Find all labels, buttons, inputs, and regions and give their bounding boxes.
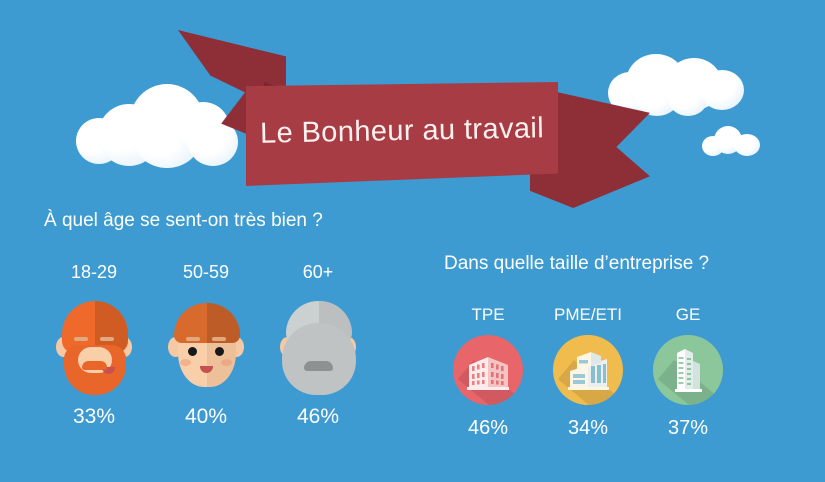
beard-icon — [64, 345, 126, 395]
company-size-pme-eti: PME/ETI — [538, 305, 638, 440]
company-size-percent: 46% — [438, 417, 538, 440]
cloud-puff — [734, 134, 760, 156]
young-man-face — [156, 293, 256, 397]
age-group-label: 60+ — [268, 262, 368, 283]
skyscraper-glyph — [653, 335, 723, 405]
eye-icon — [188, 347, 197, 356]
age-group-percent: 40% — [156, 405, 256, 429]
mustache-icon — [82, 361, 107, 370]
eye-icon — [215, 347, 224, 356]
eyebrow-icon — [212, 337, 226, 341]
eyebrow-icon — [186, 337, 200, 341]
eyebrow-icon — [100, 337, 114, 341]
office-building-glyph — [553, 335, 623, 405]
company-size-label: PME/ETI — [538, 305, 638, 325]
age-group-percent: 33% — [44, 405, 144, 429]
mustache-icon — [304, 361, 333, 371]
age-group-label: 50-59 — [156, 262, 256, 283]
age-group-label: 18-29 — [44, 262, 144, 283]
company-size-list: TPE — [438, 305, 750, 440]
grey-hair-volume — [282, 323, 356, 395]
office-building-icon — [553, 335, 623, 405]
ribbon-band: Le Bonheur au travail — [246, 82, 558, 186]
age-group-18-29: 18-29 — [44, 262, 144, 429]
skyscraper-icon — [653, 335, 723, 405]
company-size-label: GE — [638, 305, 738, 325]
age-section-title: À quel âge se sent-on très bien ? — [44, 210, 323, 232]
elderly-man-face — [268, 293, 368, 397]
age-group-percent: 46% — [268, 405, 368, 429]
age-group-list: 18-29 — [44, 262, 384, 429]
company-size-label: TPE — [438, 305, 538, 325]
company-size-percent: 34% — [538, 417, 638, 440]
cloud-puff — [700, 70, 744, 110]
classic-building-icon — [453, 335, 523, 405]
cheek-blush — [221, 359, 232, 366]
age-group-60-plus: 60+ 4 — [268, 262, 368, 429]
title-ribbon: Le Bonheur au travail — [178, 28, 648, 178]
company-size-ge: GE — [638, 305, 738, 440]
infographic-canvas: Le Bonheur au travail À quel âge se sent… — [0, 0, 825, 482]
cloud-right-small — [702, 126, 760, 156]
company-size-percent: 37% — [638, 417, 738, 440]
eyebrow-icon — [74, 337, 88, 341]
age-group-50-59: 50-59 40% — [156, 262, 256, 429]
classic-building-glyph — [453, 335, 523, 405]
company-section-title: Dans quelle taille d’entreprise ? — [444, 253, 709, 275]
page-title: Le Bonheur au travail — [260, 112, 545, 150]
company-size-tpe: TPE — [438, 305, 538, 440]
bearded-ginger-man-face — [44, 293, 144, 397]
cheek-blush — [180, 359, 191, 366]
